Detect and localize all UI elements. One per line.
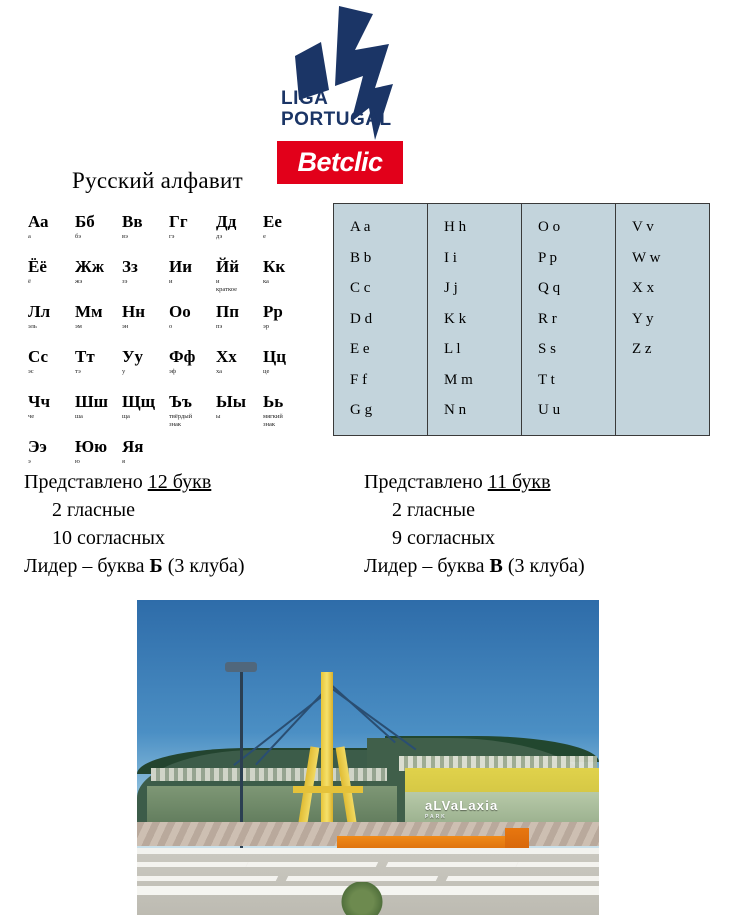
summary-right-vowels: 2 гласные	[364, 496, 585, 524]
cyrillic-letter-pair: Яя	[122, 437, 169, 457]
summary-left-leader-prefix: Лидер – буква	[24, 555, 150, 577]
cyrillic-letter-name: е	[263, 233, 310, 241]
cyrillic-letter-name: у	[122, 368, 169, 376]
cyrillic-letter-name: жэ	[75, 278, 122, 286]
latin-letter-pair: T t	[538, 365, 615, 396]
latin-column: A aB bC cD dE eF fG g	[334, 204, 428, 435]
latin-letter-pair: U u	[538, 395, 615, 426]
cyrillic-row: ЁёёЖжжэЗззэИииЙйи краткоеКкка	[28, 257, 318, 302]
liga-portugal-betclic-logo: LIGA PORTUGAL Betclic	[277, 4, 405, 184]
cyrillic-letter-cell: Ыыы	[216, 392, 263, 437]
cyrillic-letter-cell: Ццце	[263, 347, 310, 392]
cyrillic-letter-name: це	[263, 368, 310, 376]
cyrillic-letter-pair: Вв	[122, 212, 169, 232]
alvalaxia-signage-sub: PARK	[425, 814, 498, 820]
cyrillic-letter-pair: Гг	[169, 212, 216, 232]
cyrillic-letter-pair: Фф	[169, 347, 216, 367]
stadium-mast-crossbeam	[293, 786, 363, 793]
cyrillic-letter-pair: Лл	[28, 302, 75, 322]
latin-letter-pair: S s	[538, 334, 615, 365]
cyrillic-letter-cell: Ххха	[216, 347, 263, 392]
cyrillic-letter-name: мягкий знак	[263, 413, 310, 429]
cyrillic-letter-pair: Уу	[122, 347, 169, 367]
alvalaxia-signage-text: aLVaLaxia	[425, 798, 498, 813]
cyrillic-letter-cell: Ууу	[122, 347, 169, 392]
lot-line	[137, 862, 248, 867]
cyrillic-letter-cell: Ннэн	[122, 302, 169, 347]
cyrillic-letter-cell: Еее	[263, 212, 310, 257]
summary-right-headline-prefix: Представлено	[364, 471, 488, 493]
stadium-seats-left	[151, 768, 387, 781]
cyrillic-letter-cell: Ааа	[28, 212, 75, 257]
cyrillic-letter-cell: Иии	[169, 257, 216, 302]
cyrillic-letter-pair: Ээ	[28, 437, 75, 457]
cyrillic-row: ЛлэльМмэмНнэнОооПппэРрэр	[28, 302, 318, 347]
lot-line	[516, 862, 599, 867]
lot-line	[386, 862, 518, 867]
cyrillic-letter-cell: Вввэ	[122, 212, 169, 257]
cyrillic-letter-cell: Дддэ	[216, 212, 263, 257]
cyrillic-empty-cell	[263, 437, 310, 482]
cyrillic-letter-pair: Ее	[263, 212, 310, 232]
cyrillic-letter-name: гэ	[169, 233, 216, 241]
latin-letter-pair: R r	[538, 304, 615, 335]
lot-line	[137, 876, 278, 881]
latin-letter-pair: G g	[350, 395, 427, 426]
latin-letter-pair: H h	[444, 212, 521, 243]
latin-letter-pair: W w	[632, 243, 709, 274]
cyrillic-letter-name: эм	[75, 323, 122, 331]
cyrillic-row: ЧччеШшшаЩщщаЪътвёрдый знакЫыыЬьмягкий зн…	[28, 392, 318, 437]
latin-letter-pair: A a	[350, 212, 427, 243]
cyrillic-letter-name: ха	[216, 368, 263, 376]
cyrillic-letter-cell: Ллэль	[28, 302, 75, 347]
cyrillic-letter-pair: Ъъ	[169, 392, 216, 412]
logo-line-portugal: PORTUGAL	[281, 109, 392, 130]
cyrillic-letter-pair: Рр	[263, 302, 310, 322]
cyrillic-letter-pair: Юю	[75, 437, 122, 457]
cyrillic-letter-cell: Ёёё	[28, 257, 75, 302]
cyrillic-letter-pair: Бб	[75, 212, 122, 232]
latin-letter-pair: K k	[444, 304, 521, 335]
cyrillic-letter-cell: Ррэр	[263, 302, 310, 347]
latin-column: H hI iJ jK kL lM mN n	[428, 204, 522, 435]
betclic-wordmark: Betclic	[277, 141, 403, 184]
cyrillic-letter-pair: Ии	[169, 257, 216, 277]
cyrillic-letter-pair: Тт	[75, 347, 122, 367]
latin-letter-pair: N n	[444, 395, 521, 426]
cyrillic-letter-name: ка	[263, 278, 310, 286]
latin-column: V vW wX xY yZ z	[616, 204, 709, 435]
cyrillic-letter-cell: Тттэ	[75, 347, 122, 392]
latin-column: O oP pQ qR rS sT tU u	[522, 204, 616, 435]
cyrillic-letter-pair: Дд	[216, 212, 263, 232]
cyrillic-letter-name: вэ	[122, 233, 169, 241]
cyrillic-letter-cell: Жжжэ	[75, 257, 122, 302]
cyrillic-letter-name: ы	[216, 413, 263, 421]
cyrillic-letter-name: эф	[169, 368, 216, 376]
cyrillic-row: СсэсТттэУууФфэфХххаЦцце	[28, 347, 318, 392]
cyrillic-letter-name: ё	[28, 278, 75, 286]
cyrillic-letter-pair: Нн	[122, 302, 169, 322]
lot-line	[246, 862, 378, 867]
cyrillic-letter-pair: Цц	[263, 347, 310, 367]
cyrillic-letter-pair: Оо	[169, 302, 216, 322]
cyrillic-letter-name: э	[28, 458, 75, 466]
cyrillic-letter-name: эс	[28, 368, 75, 376]
cyrillic-letter-pair: Шш	[75, 392, 122, 412]
cyrillic-letter-pair: Жж	[75, 257, 122, 277]
cyrillic-letter-pair: Щщ	[122, 392, 169, 412]
cyrillic-letter-cell: Бббэ	[75, 212, 122, 257]
cyrillic-letter-name: че	[28, 413, 75, 421]
floodlight-lamps	[225, 662, 257, 672]
summary-left-leader-letter: Б	[150, 555, 163, 577]
summary-right-leader-letter: В	[490, 555, 503, 577]
latin-letter-pair: Y y	[632, 304, 709, 335]
summary-right-leader-prefix: Лидер – буква	[364, 555, 490, 577]
cyrillic-letter-name: тэ	[75, 368, 122, 376]
cyrillic-letter-pair: Пп	[216, 302, 263, 322]
estadio-jose-alvalade-photo: aLVaLaxia PARK	[137, 600, 599, 915]
cyrillic-letter-pair: Мм	[75, 302, 122, 322]
cyrillic-letter-pair: Зз	[122, 257, 169, 277]
cyrillic-letter-name: и краткое	[216, 278, 263, 294]
cyrillic-letter-cell: Ччче	[28, 392, 75, 437]
summary-latin: Представлено 11 букв 2 гласные 9 согласн…	[364, 468, 585, 580]
summary-right-leader-suffix: (3 клуба)	[503, 555, 585, 577]
latin-letter-pair: Q q	[538, 273, 615, 304]
summary-left-headline-prefix: Представлено	[24, 471, 148, 493]
lot-line	[446, 876, 599, 881]
logo-wordmark: LIGA PORTUGAL	[281, 88, 392, 130]
cyrillic-letter-cell: Ььмягкий знак	[263, 392, 310, 437]
cyrillic-letter-name: бэ	[75, 233, 122, 241]
page-title: Русский алфавит	[72, 168, 243, 194]
latin-letter-pair: C c	[350, 273, 427, 304]
cyrillic-letter-cell: Ммэм	[75, 302, 122, 347]
lot-line	[286, 876, 438, 881]
cyrillic-letter-name: я	[122, 458, 169, 466]
cyrillic-letter-name: пэ	[216, 323, 263, 331]
cyrillic-letter-name: эль	[28, 323, 75, 331]
cyrillic-letter-pair: Сс	[28, 347, 75, 367]
latin-letter-pair: M m	[444, 365, 521, 396]
cyrillic-letter-pair: Ёё	[28, 257, 75, 277]
cyrillic-letter-name: дэ	[216, 233, 263, 241]
logo-line-liga: LIGA	[281, 88, 392, 109]
latin-letter-pair: O o	[538, 212, 615, 243]
cyrillic-letter-pair: Ыы	[216, 392, 263, 412]
cyrillic-letter-cell: Шшша	[75, 392, 122, 437]
betclic-sponsor-bar: Betclic	[277, 141, 403, 184]
cyrillic-letter-name: твёрдый знак	[169, 413, 216, 429]
cyrillic-letter-cell: Гггэ	[169, 212, 216, 257]
cyrillic-letter-cell: Ффэф	[169, 347, 216, 392]
latin-letter-pair: F f	[350, 365, 427, 396]
cyrillic-letter-name: а	[28, 233, 75, 241]
latin-letter-pair: J j	[444, 273, 521, 304]
cyrillic-letter-name: зэ	[122, 278, 169, 286]
cyrillic-letter-name: о	[169, 323, 216, 331]
latin-letter-pair: E e	[350, 334, 427, 365]
cyrillic-letter-pair: Ьь	[263, 392, 310, 412]
summary-left-consonants: 10 согласных	[24, 524, 245, 552]
cyrillic-letter-cell: Ййи краткое	[216, 257, 263, 302]
cyrillic-letter-name: ща	[122, 413, 169, 421]
summary-right-headline: Представлено 11 букв	[364, 468, 585, 496]
latin-letter-pair: Z z	[632, 334, 709, 365]
cyrillic-letter-pair: Чч	[28, 392, 75, 412]
cyrillic-letter-name: эн	[122, 323, 169, 331]
foreground-bush	[341, 882, 383, 915]
cyrillic-letter-pair: Хх	[216, 347, 263, 367]
cyrillic-letter-cell: Щщща	[122, 392, 169, 437]
cyrillic-letter-name: эр	[263, 323, 310, 331]
summary-left-headline: Представлено 12 букв	[24, 468, 245, 496]
cyrillic-letter-pair: Аа	[28, 212, 75, 232]
latin-letter-pair: X x	[632, 273, 709, 304]
cyrillic-row: АааБббэВввэГггэДддэЕее	[28, 212, 318, 257]
summary-cyrillic: Представлено 12 букв 2 гласные 10 соглас…	[24, 468, 245, 580]
latin-letter-pair: I i	[444, 243, 521, 274]
latin-letter-pair: D d	[350, 304, 427, 335]
cyrillic-letter-name: и	[169, 278, 216, 286]
cyrillic-letter-name: ша	[75, 413, 122, 421]
cyrillic-letter-cell: Пппэ	[216, 302, 263, 347]
latin-letter-pair: P p	[538, 243, 615, 274]
stadium-mast	[321, 672, 333, 830]
latin-letter-pair: L l	[444, 334, 521, 365]
cyrillic-letter-cell: Ккка	[263, 257, 310, 302]
cyrillic-letter-cell: Ооо	[169, 302, 216, 347]
summary-right-headline-value: 11 букв	[488, 471, 551, 493]
cyrillic-alphabet-table: АааБббэВввэГггэДддэЕееЁёёЖжжэЗззэИииЙйи …	[28, 212, 318, 482]
latin-alphabet-table: A aB bC cD dE eF fG gH hI iJ jK kL lM mN…	[333, 203, 710, 436]
cyrillic-letter-name: ю	[75, 458, 122, 466]
cyrillic-letter-pair: Кк	[263, 257, 310, 277]
summary-left-headline-value: 12 букв	[148, 471, 212, 493]
alvalaxia-signage: aLVaLaxia PARK	[425, 798, 498, 820]
cyrillic-letter-cell: Зззэ	[122, 257, 169, 302]
summary-right-leader: Лидер – буква В (3 клуба)	[364, 552, 585, 580]
cyrillic-letter-pair: Йй	[216, 257, 263, 277]
summary-left-vowels: 2 гласные	[24, 496, 245, 524]
summary-left-leader: Лидер – буква Б (3 клуба)	[24, 552, 245, 580]
latin-letter-pair: V v	[632, 212, 709, 243]
cyrillic-letter-cell: Ъътвёрдый знак	[169, 392, 216, 437]
summary-left-leader-suffix: (3 клуба)	[163, 555, 245, 577]
cyrillic-letter-cell: Ссэс	[28, 347, 75, 392]
latin-letter-pair: B b	[350, 243, 427, 274]
summary-right-consonants: 9 согласных	[364, 524, 585, 552]
